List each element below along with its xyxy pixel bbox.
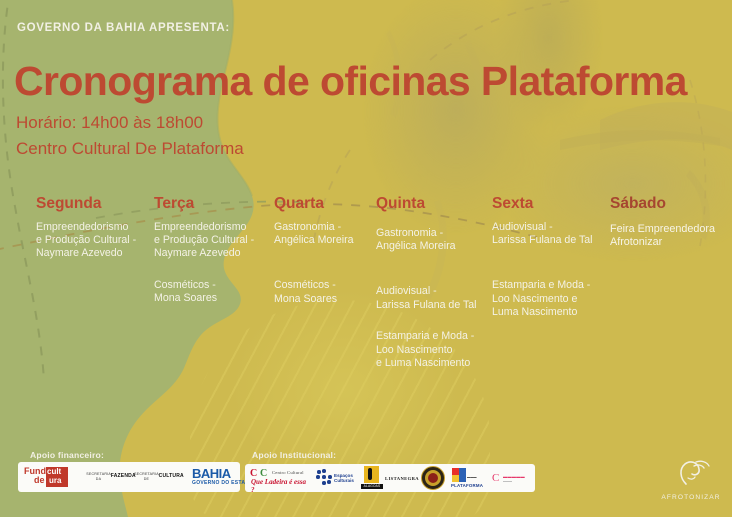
institutional-support-label: Apoio Institucional: xyxy=(252,450,336,460)
square-icon xyxy=(459,468,466,475)
day-column-segunda: Segunda Empreendedorismo e Produção Cult… xyxy=(36,196,146,275)
logo-sub-rule: ▬▬▬ xyxy=(467,475,477,479)
logo-line-2: FAZENDA xyxy=(111,474,136,480)
logo-label: ALAGOAS xyxy=(361,484,383,489)
day-column-terca: Terça Empreendedorismo e Produção Cultur… xyxy=(154,196,266,320)
workshop-slot: Audiovisual - Larissa Fulana de Tal xyxy=(492,221,608,248)
square-icon xyxy=(452,468,459,475)
parceiro-rosa-logo: C ▬▬▬▬▬ ▬▬▬ xyxy=(491,468,539,488)
institutional-logo-bar: CC Centro Cultural Que Ladeira é essa ? … xyxy=(245,464,535,492)
day-column-quinta: Quinta Gastronomia - Angélica Moreira Au… xyxy=(376,196,492,384)
centro-cultural-que-ladeira-logo: CC Centro Cultural Que Ladeira é essa ? xyxy=(249,467,311,489)
secretaria-de-cultura-logo: SECRETARIA DE CULTURA xyxy=(138,472,180,483)
workshop-slot: Cosméticos - Mona Soares xyxy=(274,279,378,306)
workshop-slot: Gastronomia - Angélica Moreira xyxy=(376,227,492,254)
square-icon xyxy=(459,475,466,482)
day-title-sexta: Sexta xyxy=(492,196,608,212)
page-title: Cronograma de oficinas Plataforma xyxy=(14,58,687,105)
logo-line-2: Culturais xyxy=(334,478,354,483)
day-title-quinta: Quinta xyxy=(376,196,492,212)
lista-negra-logo: LISTA NEGRA xyxy=(388,476,416,481)
workshop-slot: Estamparia e Moda - Loo Nascimento e Lum… xyxy=(492,279,608,319)
day-title-sabado: Sábado xyxy=(610,196,722,212)
kicker-text: GOVERNO DA BAHIA APRESENTA: xyxy=(17,22,230,34)
logo-caption-bar: ALAGOAS xyxy=(361,484,383,489)
day-column-sexta: Sexta Audiovisual - Larissa Fulana de Ta… xyxy=(492,196,608,334)
financial-logo-bar: Fundo de cult ura SECRETARIA DA FAZENDA … xyxy=(18,462,240,492)
secretaria-da-fazenda-logo: SECRETARIA DA FAZENDA xyxy=(90,472,132,483)
workshop-slot: Gastronomia - Angélica Moreira xyxy=(274,221,378,248)
afrotonizar-brand-mark: AFROTONIZAR xyxy=(660,458,722,506)
fundo-de-cultura-logo: Fundo de cult ura xyxy=(24,465,84,489)
workshop-slot: Feira Empreendedora Afrotonizar xyxy=(610,223,722,250)
day-column-sabado: Sábado Feira Empreendedora Afrotonizar xyxy=(610,196,722,263)
bahia-wordmark: BAHIA xyxy=(192,466,231,481)
financial-support-label: Apoio financeiro: xyxy=(30,450,104,460)
square-icon xyxy=(452,475,459,482)
logo-tagline: Que Ladeira é essa ? xyxy=(251,478,311,494)
logo-label: PLATAFORMA xyxy=(451,483,483,488)
figure-icon xyxy=(368,468,372,480)
logo-line-2: CULTURA xyxy=(159,474,184,480)
venue-name: Centro Cultural De Plataforma xyxy=(16,139,244,159)
logo-sub-rule: ▬▬▬ xyxy=(503,479,512,483)
workshop-slot: Empreendedorismo e Produção Cultural - N… xyxy=(154,221,266,261)
logo-line-1: LISTA xyxy=(385,476,400,481)
schedule-hours: Horário: 14h00 às 18h00 xyxy=(16,113,203,133)
logo-line-1: SECRETARIA DE xyxy=(134,472,159,483)
logo-title: Centro Cultural xyxy=(272,470,304,475)
logo-line-1: SECRETARIA DA xyxy=(86,472,111,483)
swirl-icon: C xyxy=(492,472,499,484)
workshop-slot: Empreendedorismo e Produção Cultural - N… xyxy=(36,221,146,261)
crest-center xyxy=(428,473,438,483)
workshop-slot: Audiovisual - Larissa Fulana de Tal xyxy=(376,285,492,312)
poster-canvas: GOVERNO DA BAHIA APRESENTA: Cronograma d… xyxy=(0,0,732,517)
day-title-segunda: Segunda xyxy=(36,196,146,212)
plataforma-logo: PLATAFORMA ▬▬▬ xyxy=(450,467,486,489)
alagoas-cultura-logo: ALAGOAS xyxy=(361,466,383,490)
workshop-slot: Estamparia e Moda - Loo Nascimento e Lum… xyxy=(376,330,492,370)
afrotonizar-wordmark: AFROTONIZAR xyxy=(660,494,722,501)
day-title-terca: Terça xyxy=(154,196,266,212)
schedule-columns: Segunda Empreendedorismo e Produção Cult… xyxy=(0,196,732,416)
logo-line-2: NEGRA xyxy=(400,476,419,481)
crest-emblem-logo xyxy=(421,466,445,490)
espacos-culturais-logo: Espaços Culturais xyxy=(316,468,356,488)
workshop-slot: Cosméticos - Mona Soares xyxy=(154,279,266,306)
afrotonizar-ear-icon xyxy=(660,458,722,488)
day-column-quarta: Quarta Gastronomia - Angélica Moreira Co… xyxy=(274,196,378,320)
day-title-quarta: Quarta xyxy=(274,196,378,212)
dot-cluster-icon xyxy=(316,469,333,486)
